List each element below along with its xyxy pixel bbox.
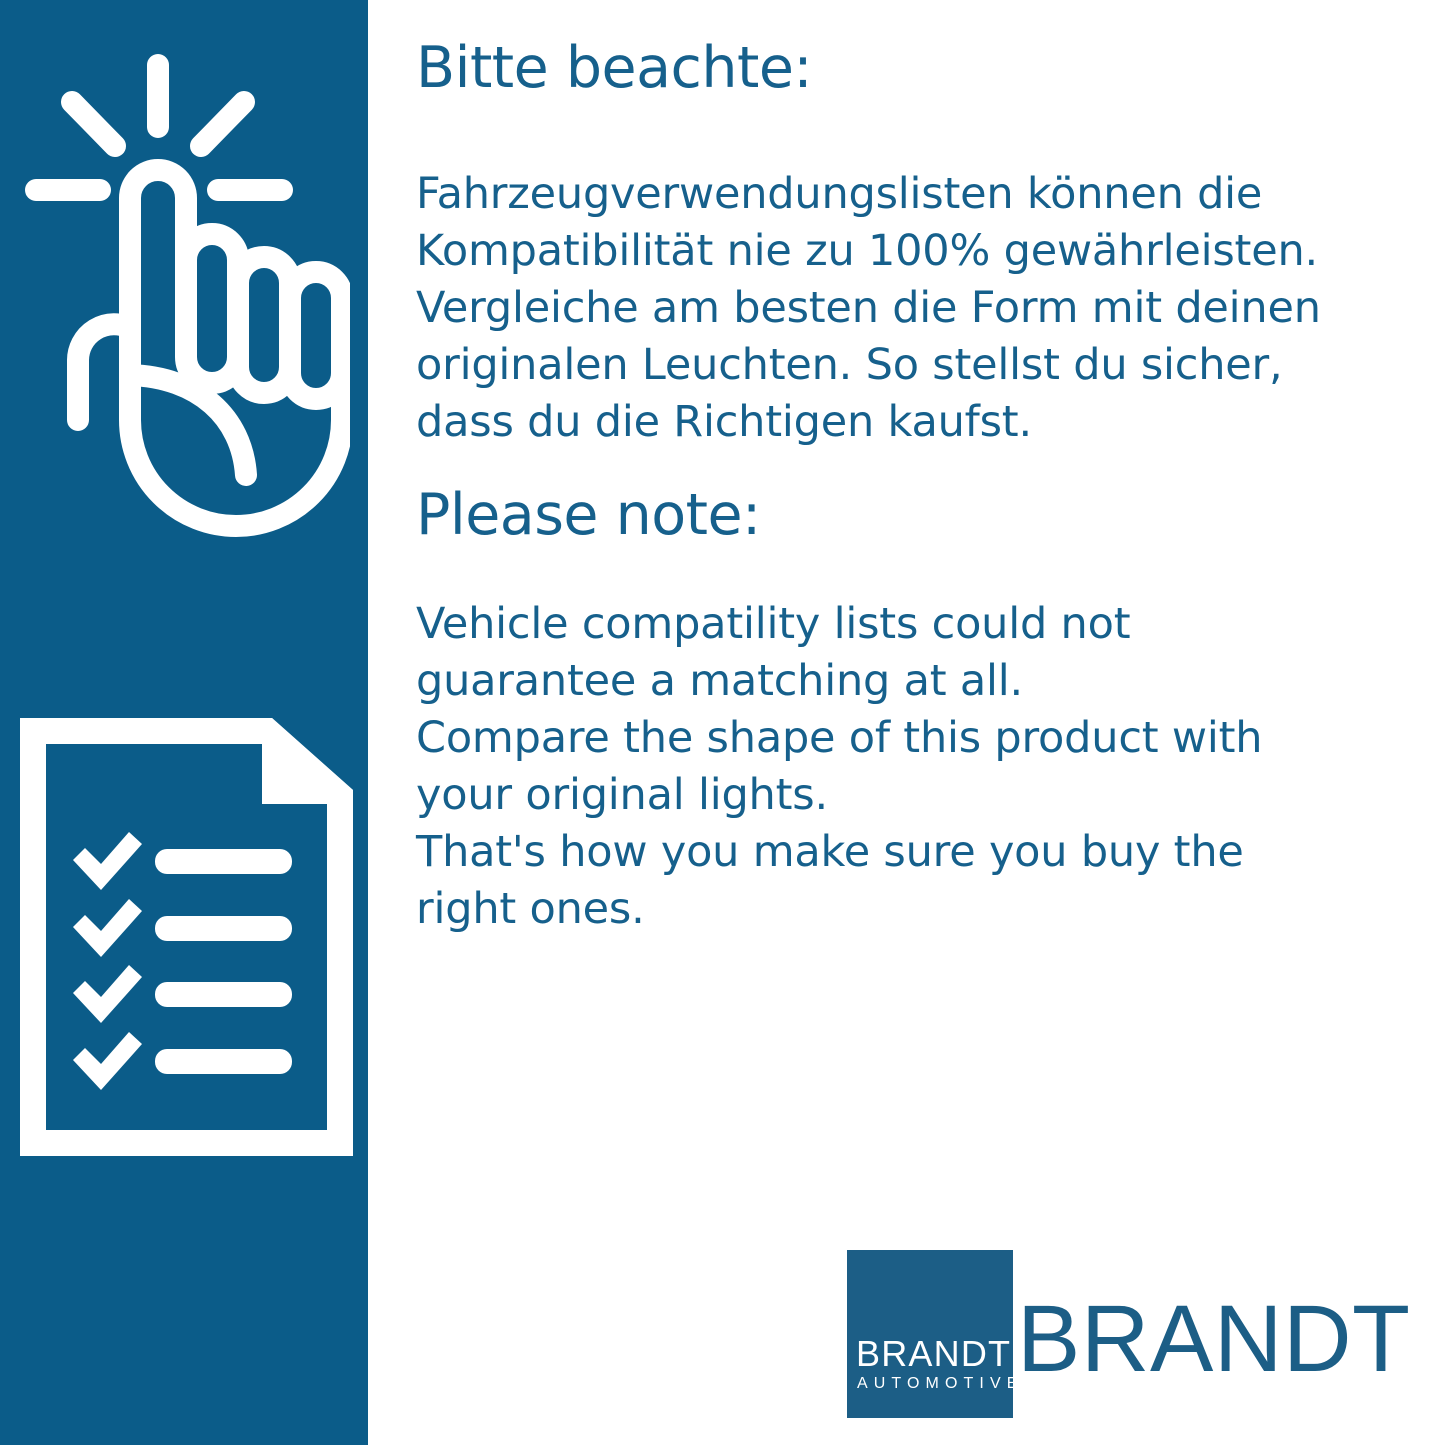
logo-mark-brandt-text: BRANDT	[856, 1336, 1006, 1372]
ray-top-left	[72, 102, 115, 146]
brandt-logo: BRANDT AUTOMOTIVE BRANDT	[847, 1250, 1407, 1420]
document-fold	[272, 718, 353, 790]
checklist-document-icon	[14, 712, 359, 1162]
pointing-hand-icon	[20, 45, 350, 550]
english-line-6: right ones.	[416, 881, 1316, 938]
english-line-2: guarantee a matching at all.	[416, 653, 1316, 710]
logo-mark-automotive-text: AUTOMOTIVE	[857, 1376, 1007, 1392]
english-line-5: That's how you make sure you buy the	[416, 824, 1316, 881]
logo-wordmark-text: BRANDT	[1017, 1292, 1411, 1387]
content-column: Bitte beachte: Fahrzeugverwendungslisten…	[416, 0, 1416, 1445]
german-line-3: Vergleiche am besten die Form mit deinen	[416, 280, 1376, 337]
list-line-3	[155, 982, 292, 1007]
german-line-4: originalen Leuchten. So stellst du siche…	[416, 337, 1376, 394]
english-paragraph: Vehicle compatility lists could not guar…	[416, 596, 1316, 938]
german-line-5: dass du die Richtigen kaufst.	[416, 394, 1376, 451]
list-line-4	[155, 1049, 292, 1074]
english-line-1: Vehicle compatility lists could not	[416, 596, 1316, 653]
english-line-3: Compare the shape of this product with	[416, 710, 1316, 767]
notice-graphic: Bitte beachte: Fahrzeugverwendungslisten…	[0, 0, 1445, 1445]
english-line-4: your original lights.	[416, 767, 1316, 824]
english-heading: Please note:	[416, 487, 761, 544]
list-line-1	[155, 849, 292, 874]
sidebar-panel	[0, 0, 368, 1445]
logo-mark-square: BRANDT AUTOMOTIVE	[847, 1250, 1013, 1418]
german-heading: Bitte beachte:	[416, 40, 812, 97]
list-line-2	[155, 916, 292, 941]
german-paragraph: Fahrzeugverwendungslisten können die Kom…	[416, 166, 1376, 451]
german-line-1: Fahrzeugverwendungslisten können die	[416, 166, 1376, 223]
ray-top-right	[201, 102, 244, 146]
german-line-2: Kompatibilität nie zu 100% gewährleisten…	[416, 223, 1376, 280]
hand-outline	[78, 170, 342, 526]
